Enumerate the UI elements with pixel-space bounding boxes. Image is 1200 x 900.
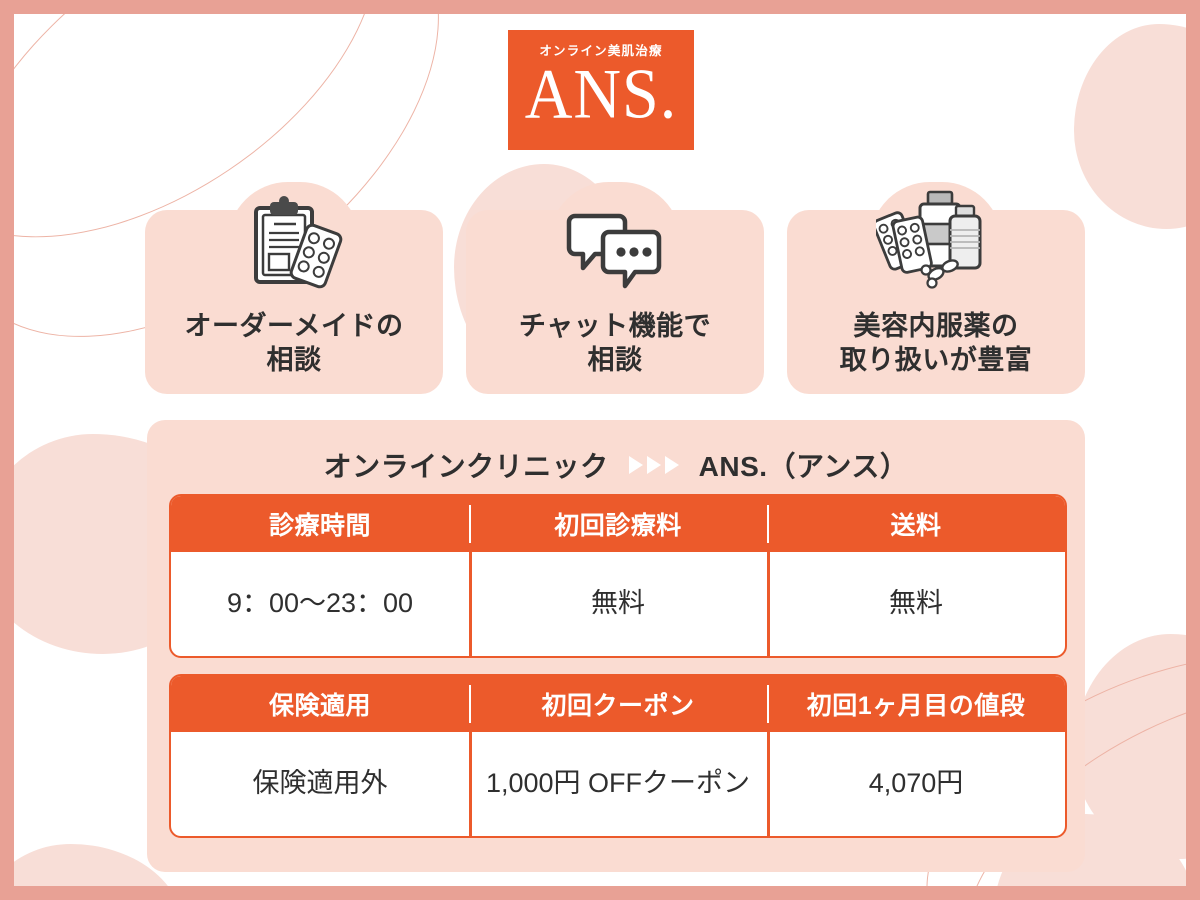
- feature-card-label-line2: 取り扱いが豊富: [840, 343, 1033, 378]
- feature-card: チャット機能で 相談: [466, 210, 764, 394]
- panel-title-right: ANS.（アンス）: [699, 445, 909, 485]
- table-header-cell: 保険適用: [171, 676, 469, 732]
- feature-card: 美容内服薬の 取り扱いが豊富: [787, 210, 1085, 394]
- table-cell: 無料: [767, 552, 1065, 656]
- feature-card-label: チャット機能で 相談: [519, 309, 711, 378]
- feature-card-label-line1: チャット機能で: [519, 309, 711, 344]
- panel-title: オンラインクリニック ANS.（アンス）: [169, 436, 1063, 494]
- info-table-hours: 診療時間 初回診療料 送料 9：00〜23：00 無料 無料: [169, 494, 1067, 658]
- table-header-cell: 初回診療料: [469, 496, 767, 552]
- feature-card-label-line1: オーダーメイドの: [185, 309, 404, 344]
- table-header-row: 保険適用 初回クーポン 初回1ヶ月目の値段: [171, 676, 1065, 732]
- feature-card: オーダーメイドの 相談: [145, 210, 443, 394]
- feature-card-label-line2: 相談: [185, 343, 404, 378]
- feature-card-label-line2: 相談: [519, 343, 711, 378]
- info-table-pricing: 保険適用 初回クーポン 初回1ヶ月目の値段 保険適用外 1,000円 OFFクー…: [169, 674, 1067, 838]
- clipboard-pills-icon: [234, 186, 354, 294]
- table-row: 9：00〜23：00 無料 無料: [171, 552, 1065, 656]
- feature-card-label: 美容内服薬の 取り扱いが豊富: [840, 309, 1033, 378]
- table-header-row: 診療時間 初回診療料 送料: [171, 496, 1065, 552]
- brand-logo: オンライン美肌治療 ANS.: [508, 30, 694, 150]
- table-row: 保険適用外 1,000円 OFFクーポン 4,070円: [171, 732, 1065, 836]
- table-header-cell: 初回1ヶ月目の値段: [767, 676, 1065, 732]
- table-header-cell: 診療時間: [171, 496, 469, 552]
- feature-card-label: オーダーメイドの 相談: [185, 309, 404, 378]
- feature-card-list: オーダーメイドの 相談 チャット機能で 相談: [145, 210, 1085, 394]
- table-cell: 保険適用外: [171, 732, 469, 836]
- table-cell-coupon: 1,000円 OFFクーポン: [469, 732, 767, 836]
- feature-card-label-line1: 美容内服薬の: [840, 309, 1033, 344]
- chat-bubbles-icon: [555, 186, 675, 294]
- table-cell: 無料: [469, 552, 767, 656]
- triple-arrow-icon: [629, 456, 679, 474]
- medicine-bottles-icon: [876, 186, 996, 294]
- panel-title-left: オンラインクリニック: [324, 445, 609, 485]
- infographic-root: オンライン美肌治療 ANS.: [0, 0, 1200, 900]
- table-cell: 4,070円: [767, 732, 1065, 836]
- clinic-info-panel: オンラインクリニック ANS.（アンス） 診療時間 初回診療料 送料 9：00〜…: [147, 420, 1085, 872]
- table-header-cell: 送料: [767, 496, 1065, 552]
- logo-wordmark: ANS.: [525, 61, 678, 129]
- table-cell: 9：00〜23：00: [171, 552, 469, 656]
- table-header-cell: 初回クーポン: [469, 676, 767, 732]
